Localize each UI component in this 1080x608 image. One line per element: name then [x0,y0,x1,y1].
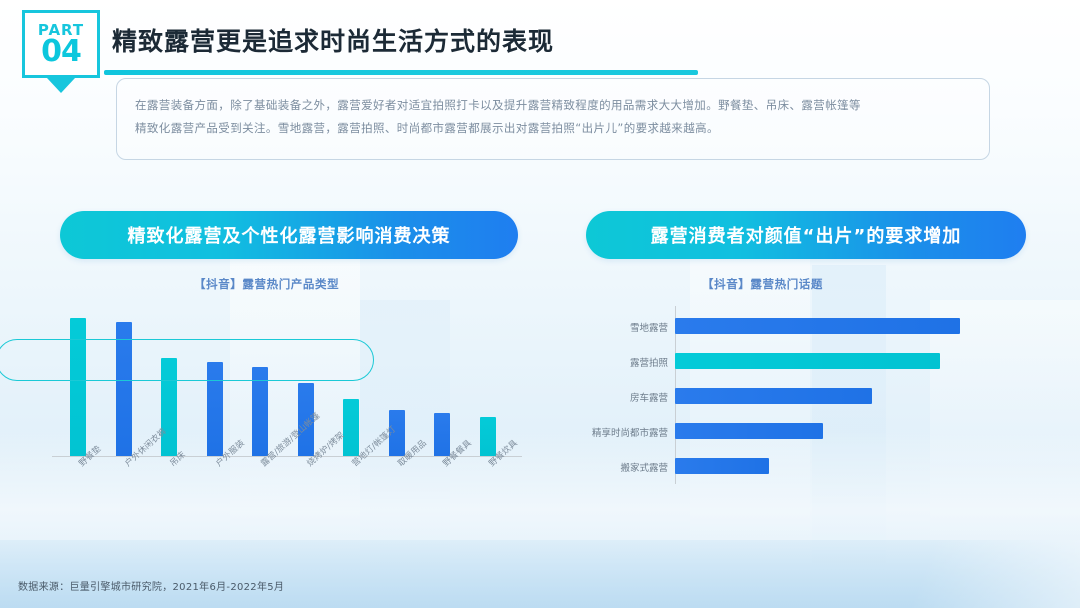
horizontal-bar-row: 精享时尚都市露营 [600,414,1000,449]
vertical-bar-label-slot: 露营/旅游/登山帐篷 [258,300,259,301]
vertical-bar-label-slot: 烧烤炉/烤架 [304,300,305,301]
vertical-bar-label-slot: 野餐垫 [76,300,77,301]
vertical-bar [70,318,86,457]
section-header-right: 露营消费者对颜值“出片”的要求增加 [586,211,1026,259]
horizontal-bar-label: 雪地露营 [518,320,668,334]
vertical-bar [252,367,268,457]
page-title: 精致露营更是追求时尚生活方式的表现 [112,22,554,58]
vertical-bar-chart: 野餐垫户外休闲衣裤吊床户外服装露营/旅游/登山帐篷烧烤炉/烤架营地灯/帐篷灯取暖… [52,300,522,530]
vertical-bar [207,362,223,457]
horizontal-bar-label: 搬家式露营 [518,460,668,474]
horizontal-bar-label: 露营拍照 [518,355,668,369]
vertical-bar [161,358,177,457]
vertical-bar-label-slot: 野餐餐具 [440,300,441,301]
vertical-bar [343,399,359,457]
horizontal-bar [675,423,823,439]
vertical-bar-label-slot: 户外服装 [213,300,214,301]
slide-canvas: PART 04 精致露营更是追求时尚生活方式的表现 在露营装备方面，除了基础装备… [0,0,1080,608]
horizontal-bar-row: 露营拍照 [600,344,1000,379]
description-line-1: 在露营装备方面，除了基础装备之外，露营爱好者对适宜拍照打卡以及提升露营精致程度的… [135,94,975,117]
vertical-bar-label-slot: 户外休闲衣裤 [122,300,123,301]
horizontal-bar [675,353,940,369]
slide-header: PART 04 精致露营更是追求时尚生活方式的表现 [0,0,1080,90]
chart-title-left: 【抖音】露营热门产品类型 [194,276,339,292]
part-badge-number: 04 [41,38,81,66]
part-badge-pointer-icon [47,78,75,93]
horizontal-bar-row: 搬家式露营 [600,449,1000,484]
horizontal-bar-chart: 雪地露营露营拍照房车露营精享时尚都市露营搬家式露营 [600,306,1000,486]
horizontal-bar [675,458,769,474]
chart-title-right: 【抖音】露营热门话题 [702,276,823,292]
bg-bottom-band [0,540,1080,608]
description-line-2: 精致化露营产品受到关注。雪地露营，露营拍照、时尚都市露营都展示出对露营拍照“出片… [135,117,975,140]
description-text: 在露营装备方面，除了基础装备之外，露营爱好者对适宜拍照打卡以及提升露营精致程度的… [135,94,975,140]
vertical-bar [480,417,496,457]
vertical-bar-label-slot: 吊床 [167,300,168,301]
source-footnote: 数据来源：巨量引擎城市研究院，2021年6月-2022年5月 [18,578,284,593]
vertical-bar-label-slot: 取暖用品 [395,300,396,301]
vertical-bar [116,322,132,457]
horizontal-bar-label: 精享时尚都市露营 [518,425,668,439]
horizontal-bar-row: 房车露营 [600,379,1000,414]
horizontal-bar-label: 房车露营 [518,390,668,404]
horizontal-bar [675,388,872,404]
vertical-bar [434,413,450,457]
description-box: 在露营装备方面，除了基础装备之外，露营爱好者对适宜拍照打卡以及提升露营精致程度的… [116,78,990,160]
vertical-bar-label-slot: 营地灯/帐篷灯 [349,300,350,301]
horizontal-bar-row: 雪地露营 [600,309,1000,344]
horizontal-bar [675,318,960,334]
vertical-bar-label-slot: 野餐炊具 [486,300,487,301]
part-badge: PART 04 [22,10,100,78]
section-header-left: 精致化露营及个性化露营影响消费决策 [60,211,518,259]
bg-diagonal-highlight [820,540,1080,608]
title-underline-rule [104,70,698,75]
